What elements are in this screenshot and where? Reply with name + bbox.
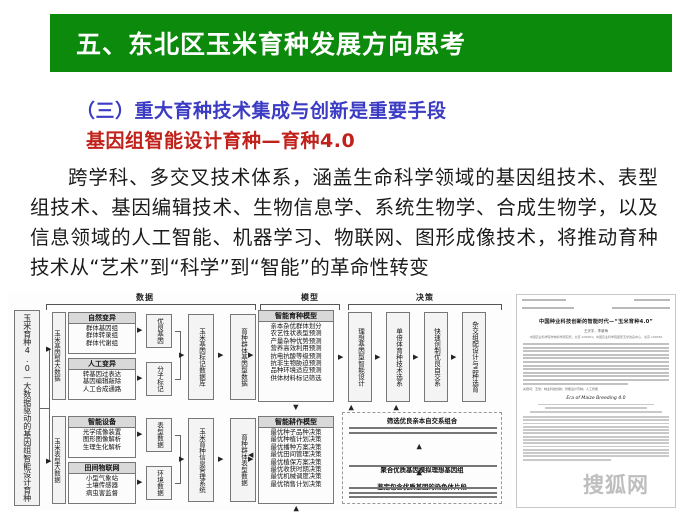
arrow-db-to-out-bottom: ▶ xyxy=(218,456,223,463)
arrow-step3-to-step4: ▶ xyxy=(451,354,456,361)
arrow-panel-up-2: ▶ xyxy=(416,470,423,475)
paper-authors: 王天宇，李新海 xyxy=(517,328,675,333)
arrow-left-feedback: ◀ xyxy=(248,452,253,459)
arrow-step1-up: ▶ xyxy=(348,405,355,410)
source-group-smart-equipment-head: 智能设备 xyxy=(69,417,135,428)
decision-step-1: 理想基因型智能设计 xyxy=(348,312,372,402)
model-smart-breeding-items: 亲本杂优群体划分 农艺性状表型预测 产量杂种优势预测 营养高效利用预测 抗电抗酸… xyxy=(259,322,333,382)
paper-doi-line xyxy=(522,307,670,311)
arrow-db-to-out-top: ▶ xyxy=(218,352,223,359)
arrow-to-db-top: ▶ xyxy=(179,352,184,359)
arrow-step1-to-step2: ▶ xyxy=(375,354,380,361)
arrow-src-to-env: ▶ xyxy=(137,479,142,486)
genomics-panel-caption-1: 筛选优良亲本自交系组合 xyxy=(343,416,501,425)
source-group-smart-equipment-items: 光学成像装置 图形图像解析 生理生化解析 xyxy=(69,428,135,451)
paper-title-en: Era of Maize Breeding 4.0 xyxy=(517,396,675,401)
connector-marker-db xyxy=(175,379,181,380)
watermark-text: 搜狐网 xyxy=(583,469,649,499)
phenotype-bigdata-label-text: 玉米表型大数据 xyxy=(53,417,60,503)
figure-main-label: 玉米育种4.0—大数据驱动的基因组智能设计育种 xyxy=(14,310,40,506)
midbox-environment-data-text: 环境数据 xyxy=(156,470,163,496)
slide-root: 五、东北区玉米育种发展方向思考 （三）重大育种技术集成与创新是重要手段 基因组智… xyxy=(0,0,680,512)
database-marker-text: 玉米基因标记数据库 xyxy=(198,328,205,387)
source-group-field-iot-items: 小型气象站 土壤传感器 病虫害监督 xyxy=(69,474,135,497)
decision-step-2: 单倍体育种技术选系 xyxy=(386,312,410,402)
arrow-model-to-step1: ▶ xyxy=(338,354,343,361)
model-smart-farming-items: 最优种子品种决策 最优种植计划决策 最优播种方案决策 最优田间管理决策 最优植保… xyxy=(259,428,333,488)
source-group-artificial-variation: 人工变异 转基因过表达 基因编辑敲除 人工合成通路 xyxy=(68,358,136,400)
decision-step-3-text: 快速创制优良自交系 xyxy=(433,328,440,387)
output-phenotype-data-text: 育种群体表型数据 xyxy=(240,434,247,486)
midbox-phenotype-data-text: 表型数据 xyxy=(156,422,163,448)
midbox-elite-gene: 优良基因 xyxy=(146,314,172,348)
body-paragraph: 跨学科、多交叉技术体系，涵盖生命科学领域的基因组技术、表型组技术、基因编辑技术、… xyxy=(30,163,658,283)
genome-bigdata-label: 玉米基因型大数据 xyxy=(52,312,66,400)
database-marker: 玉米基因标记数据库 xyxy=(188,314,214,400)
column-header-data: 数据 xyxy=(136,292,154,303)
connector-env-db xyxy=(175,483,181,484)
connector-main-vertical xyxy=(49,350,50,408)
column-header-model: 模型 xyxy=(301,292,319,303)
arrow-to-genome: ▶ xyxy=(46,346,51,353)
source-group-natural-variation-items: 群体基因组 群体转录组 群体代谢组 xyxy=(69,324,135,347)
midbox-elite-gene-text: 优良基因 xyxy=(156,318,163,344)
midbox-molecular-marker-text: 分子标记 xyxy=(156,366,163,392)
phenotype-bigdata-label: 玉米表型大数据 xyxy=(52,416,66,504)
arrow-model-top-down: ▶ xyxy=(292,405,299,410)
source-group-artificial-variation-items: 转基因过表达 基因编辑敲除 人工合成通路 xyxy=(69,370,135,393)
decision-step-1-text: 理想基因型智能设计 xyxy=(357,328,364,387)
arrow-step2-up: ▶ xyxy=(393,405,400,410)
midbox-environment-data: 环境数据 xyxy=(146,466,172,500)
brace-data xyxy=(46,304,256,310)
source-group-natural-variation: 自然变异 群体基因组 群体转录组 群体代谢组 xyxy=(68,312,136,354)
genomics-panel: 筛选优良亲本自交系组合 ▶ 聚合优质基因模拟理想基因组 ▶ 鉴定包含优质基因的染… xyxy=(342,412,502,504)
model-smart-farming: 智能耕作模型 最优种子品种决策 最优种植计划决策 最优播种方案决策 最优田间管理… xyxy=(258,416,334,504)
arrow-src-to-gene: ▶ xyxy=(137,327,142,334)
paper-abstract-en xyxy=(523,404,669,461)
paper-running-head xyxy=(522,299,670,303)
brace-decision xyxy=(348,304,502,310)
chromosome-strip-1 xyxy=(349,427,497,436)
source-group-artificial-variation-head: 人工变异 xyxy=(69,359,135,370)
breeding-flow-diagram: 数据 模型 决策 玉米育种4.0—大数据驱动的基因组智能设计育种 玉米基因型大数… xyxy=(8,292,512,510)
database-breeding-info: 玉米育种信息管理系统 xyxy=(188,418,214,502)
paper-keywords: 关键词：玉米；种业科技创新；智能设计育种；人工智能 xyxy=(523,387,669,391)
arrow-step2-to-step3: ▶ xyxy=(413,354,418,361)
source-group-field-iot: 田间物联网 小型气象站 土壤传感器 病虫害监督 xyxy=(68,462,136,504)
model-smart-farming-head: 智能耕作模型 xyxy=(259,417,333,428)
source-group-smart-equipment: 智能设备 光学成像装置 图形图像解析 生理生化解析 xyxy=(68,416,136,458)
subtitle-blue: （三）重大育种技术集成与创新是重要手段 xyxy=(76,96,447,123)
arrow-to-db-bottom: ▶ xyxy=(179,456,184,463)
genome-bigdata-label-text: 玉米基因型大数据 xyxy=(53,313,60,399)
midbox-phenotype-data: 表型数据 xyxy=(146,418,172,452)
paper-affiliation: 中国农业科学院作物科学研究所，北京 100081；中国农业科学院国家玉米改良中心… xyxy=(517,335,675,339)
watermark-logo: 搜狐网 xyxy=(556,462,676,506)
arrow-to-phenotype: ▶ xyxy=(46,458,51,465)
column-header-decision: 决策 xyxy=(416,292,434,303)
arrow-src-to-pheno: ▶ xyxy=(137,431,142,438)
paper-title-cn: 中国种业科技创新的智能时代—“玉米育种4.0” xyxy=(517,318,675,325)
decision-step-4: 杂交组配设计与品种选育 xyxy=(462,312,486,402)
connector-main-vertical-2 xyxy=(49,408,50,462)
slide-header-bar: 五、东北区玉米育种发展方向思考 xyxy=(50,14,672,72)
arrow-farming-up: ▶ xyxy=(293,506,300,511)
source-group-natural-variation-head: 自然变异 xyxy=(69,313,135,324)
subtitle-red: 基因组智能设计育种—育种4.0 xyxy=(86,126,355,153)
figure-main-label-text: 玉米育种4.0—大数据驱动的基因组智能设计育种 xyxy=(22,314,32,502)
paper-abstract-cn xyxy=(523,343,669,385)
model-smart-breeding: 智能育种模型 亲本杂优群体划分 农艺性状表型预测 产量杂种优势预测 营养高效利用… xyxy=(258,310,334,402)
chromosome-strip-3 xyxy=(349,487,497,501)
arrow-src-to-marker: ▶ xyxy=(137,375,142,382)
arrow-out-to-model-top: ▶ xyxy=(248,352,253,359)
source-group-field-iot-head: 田间物联网 xyxy=(69,463,135,474)
header-underline xyxy=(50,72,672,75)
page-title: 五、东北区玉米育种发展方向思考 xyxy=(76,25,466,61)
decision-step-3: 快速创制优良自交系 xyxy=(424,312,448,402)
output-genotype-data-text: 育种群体基因型数据 xyxy=(240,328,247,387)
decision-step-2-text: 单倍体育种技术选系 xyxy=(395,328,402,387)
model-smart-breeding-head: 智能育种模型 xyxy=(259,311,333,322)
database-breeding-info-text: 玉米育种信息管理系统 xyxy=(198,428,205,493)
decision-step-4-text: 杂交组配设计与品种选育 xyxy=(471,321,478,393)
midbox-molecular-marker: 分子标记 xyxy=(146,362,172,396)
arrow-panel-up-1: ▶ xyxy=(416,444,423,449)
